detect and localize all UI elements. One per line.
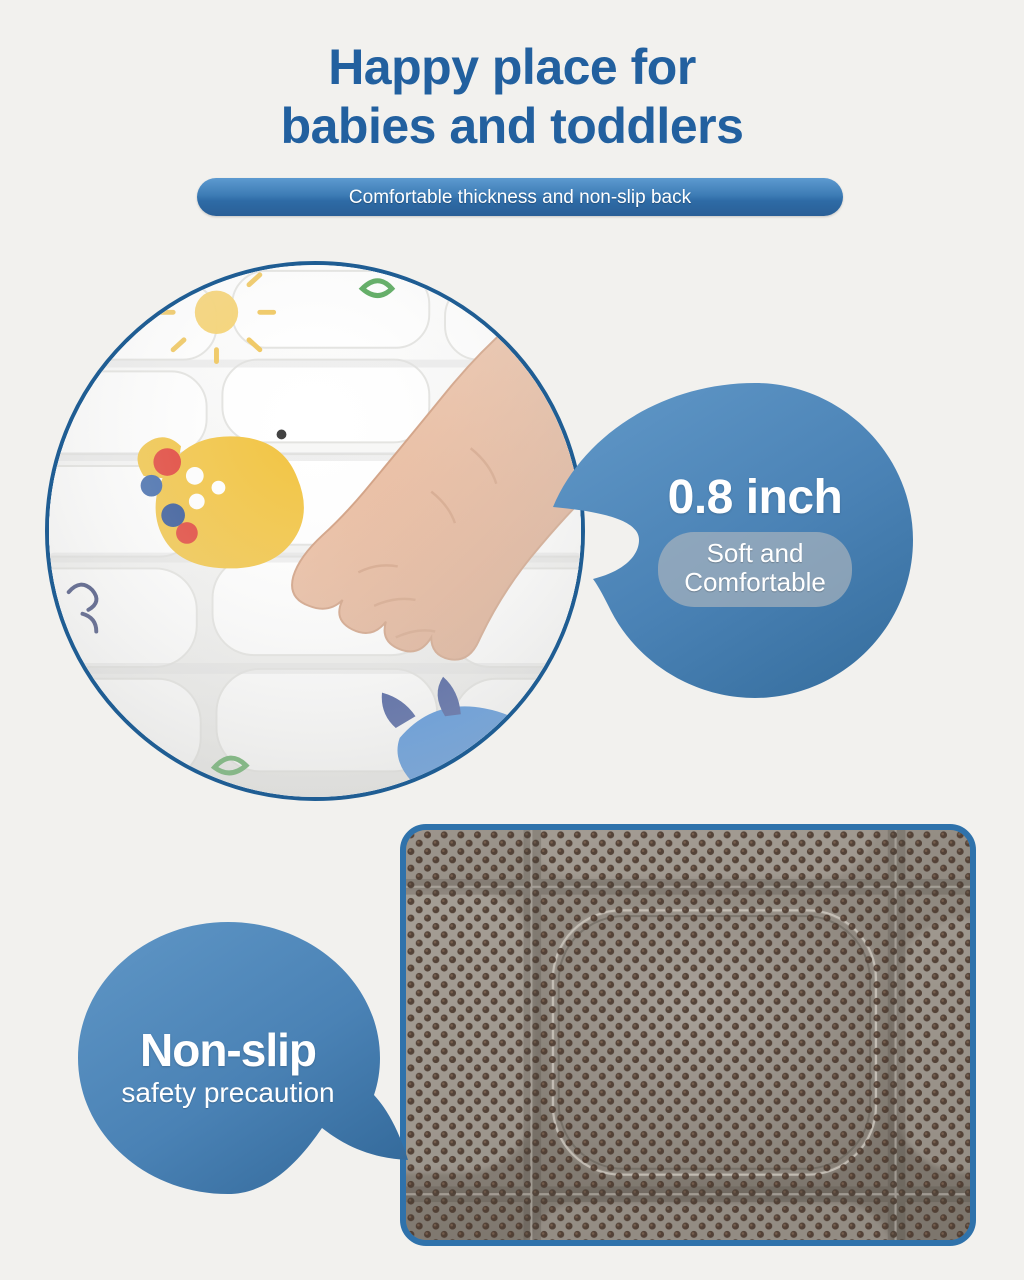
- thickness-badge-line-2: Comfortable: [684, 568, 826, 597]
- non-slip-callout: Non-slip safety precaution: [78, 922, 408, 1194]
- page-title: Happy place for babies and toddlers: [0, 38, 1024, 156]
- mattress-texture-illustration: [49, 265, 581, 797]
- page-title-line-1: Happy place for: [0, 38, 1024, 97]
- subtitle-pill-label: Comfortable thickness and non-slip back: [349, 188, 691, 207]
- thickness-badge-line-1: Soft and: [684, 539, 826, 568]
- hand-pressing-mattress-photo: [45, 261, 585, 801]
- non-slip-subtitle: safety precaution: [121, 1079, 334, 1107]
- thickness-callout: 0.8 inch Soft and Comfortable: [553, 383, 913, 698]
- thickness-badge: Soft and Comfortable: [658, 532, 852, 607]
- non-slip-dots-illustration: [406, 830, 970, 1243]
- thickness-value: 0.8 inch: [668, 474, 843, 522]
- subtitle-pill: Comfortable thickness and non-slip back: [197, 178, 843, 216]
- product-feature-page: Happy place for babies and toddlers Comf…: [0, 0, 1024, 1280]
- page-title-line-2: babies and toddlers: [0, 97, 1024, 156]
- non-slip-title: Non-slip: [140, 1027, 316, 1073]
- non-slip-dotted-backing-photo: [400, 824, 976, 1246]
